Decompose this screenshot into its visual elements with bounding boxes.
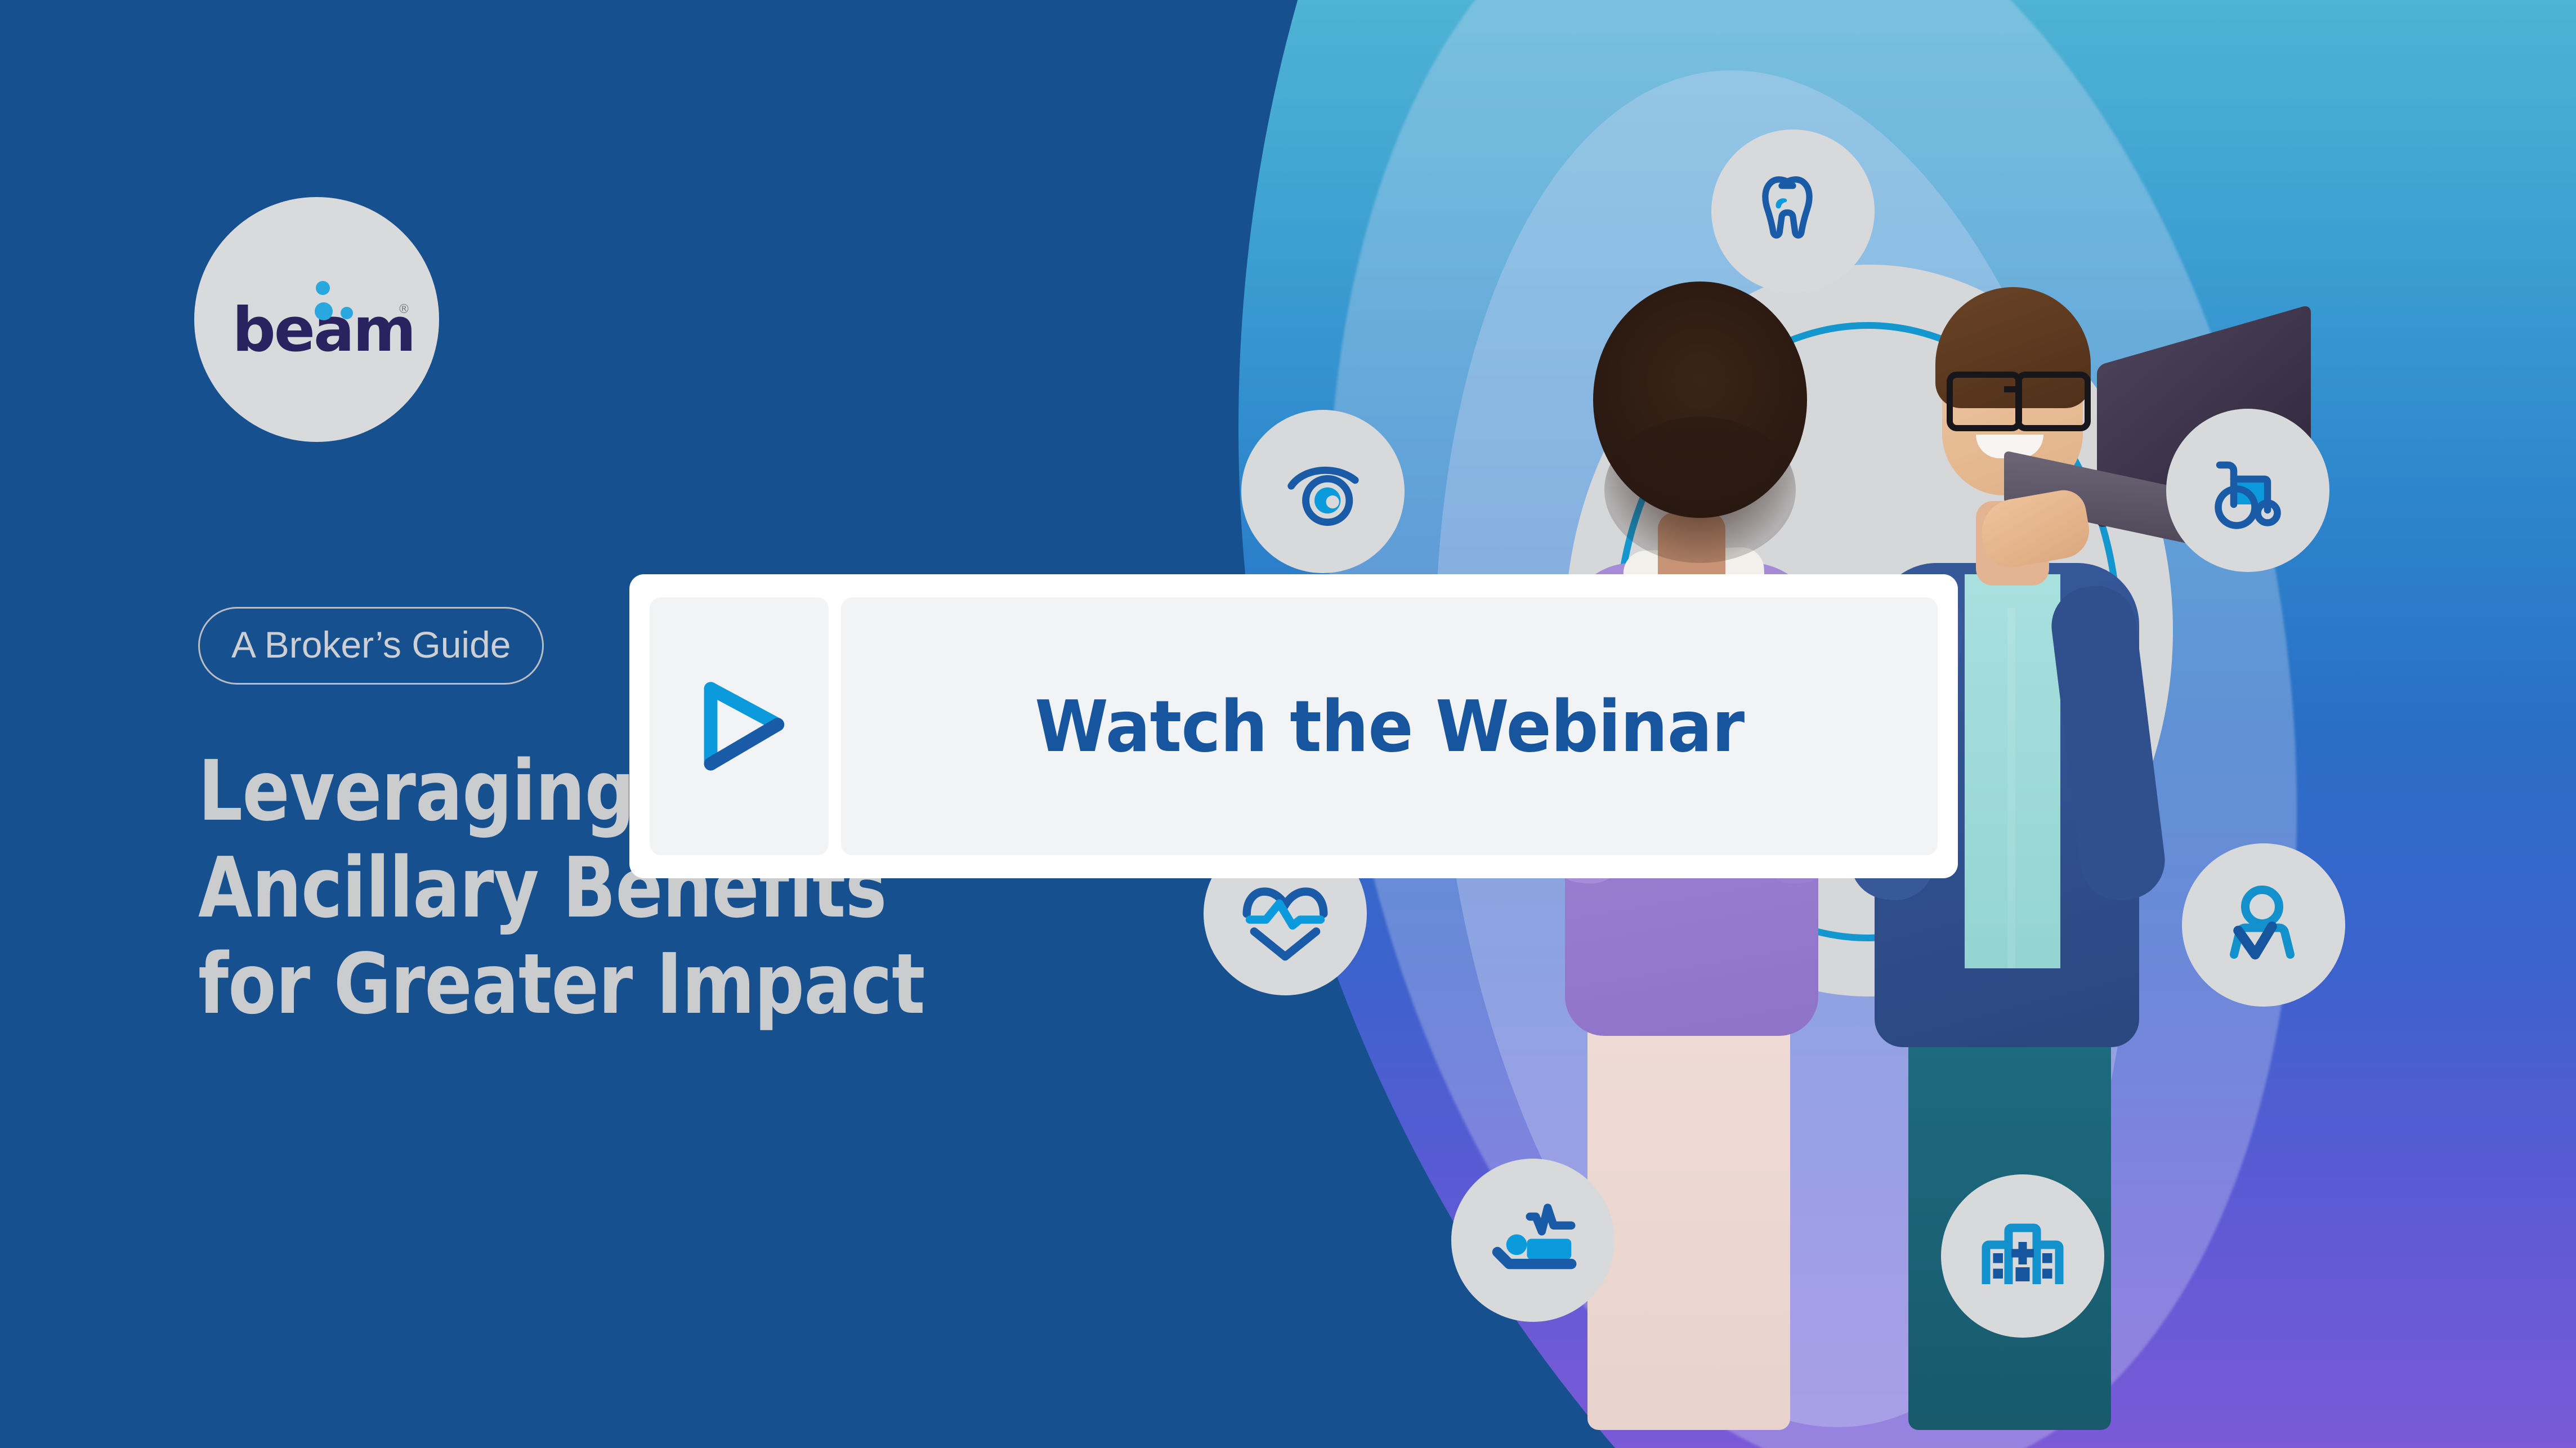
hospital-icon (1941, 1174, 2104, 1338)
beam-dot-icon-1 (316, 281, 330, 295)
person-check-icon (2182, 843, 2345, 1007)
registered-mark: ® (398, 302, 410, 316)
play-triangle-icon (686, 673, 793, 780)
watch-webinar-label: Watch the Webinar (1035, 685, 1744, 768)
eyebrow-badge: A Broker’s Guide (198, 607, 544, 685)
wheelchair-icon (2166, 409, 2329, 572)
beam-logo[interactable]: beam ® (194, 197, 439, 442)
eye-icon (1241, 410, 1405, 573)
watch-webinar-cta[interactable]: Watch the Webinar (629, 574, 1958, 878)
hospital-bed-icon (1451, 1159, 1615, 1322)
hero-banner: beam ® A Broker’s Guide Leveraging Ancil… (0, 0, 2576, 1448)
tooth-icon (1711, 129, 1875, 293)
headline-line-3: for Greater Impact (198, 936, 1097, 1033)
beam-dot-icon-2 (315, 302, 333, 320)
watch-webinar-label-panel[interactable]: Watch the Webinar (841, 597, 1938, 855)
play-button[interactable] (650, 597, 829, 855)
beam-dot-icon-3 (341, 307, 353, 319)
